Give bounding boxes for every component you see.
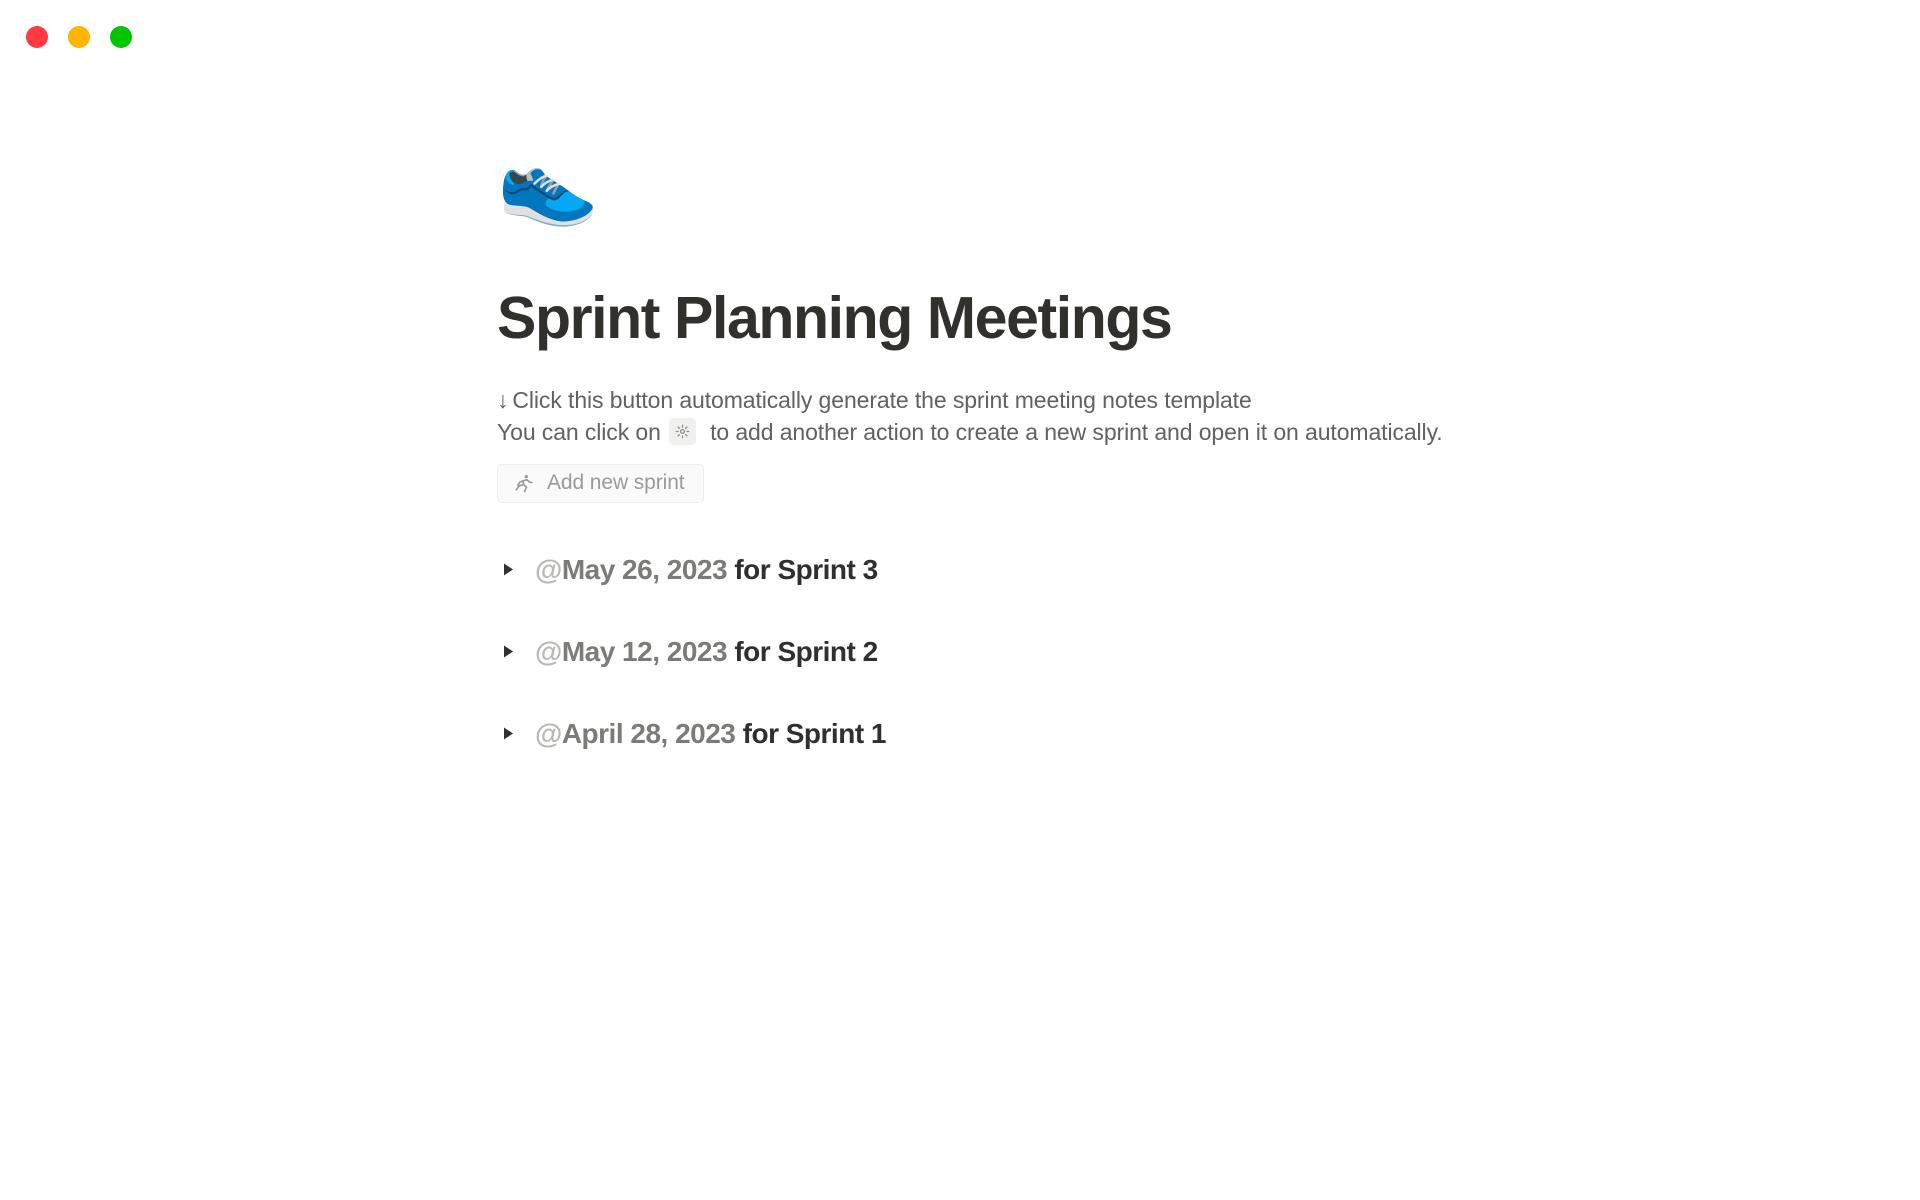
runner-icon [513, 473, 534, 494]
toggle-row[interactable]: @April 28, 2023 for Sprint 1 [497, 714, 1617, 754]
caret-glyph [503, 645, 514, 658]
close-window-button[interactable] [26, 26, 48, 48]
toggle-row-text: @May 26, 2023 for Sprint 3 [535, 556, 878, 584]
arrow-down-icon: ↓ [497, 384, 508, 416]
mention-at-symbol: @ [535, 636, 562, 667]
chevron-right-icon[interactable] [497, 559, 519, 581]
description-line-1: ↓ Click this button automatically genera… [497, 384, 1617, 416]
caret-glyph [503, 727, 514, 740]
toggle-row-text: @April 28, 2023 for Sprint 1 [535, 720, 886, 748]
chevron-right-icon[interactable] [497, 641, 519, 663]
traffic-lights [26, 26, 132, 48]
toggle-row-suffix: for Sprint 3 [727, 554, 878, 585]
gear-icon-glyph [675, 424, 690, 439]
mention-at-symbol: @ [535, 554, 562, 585]
sprint-toggle-list: @May 26, 2023 for Sprint 3 @May 12, 2023… [497, 550, 1617, 754]
gear-icon[interactable] [669, 418, 696, 445]
toggle-row-text: @May 12, 2023 for Sprint 2 [535, 638, 878, 666]
running-shoe-emoji-icon[interactable]: 👟 [497, 142, 1617, 238]
maximize-window-button[interactable] [110, 26, 132, 48]
window-titlebar [0, 0, 1920, 74]
description-line-2-prefix: You can click on [497, 416, 661, 448]
mention-at-symbol: @ [535, 718, 562, 749]
mention-date[interactable]: April 28, 2023 [562, 718, 736, 749]
mention-date[interactable]: May 12, 2023 [562, 636, 727, 667]
document-page: 👟 Sprint Planning Meetings ↓ Click this … [0, 74, 1920, 1200]
description-line-2-suffix: to add another action to create a new sp… [704, 416, 1443, 448]
add-new-sprint-button[interactable]: Add new sprint [497, 464, 704, 503]
toggle-row-suffix: for Sprint 2 [727, 636, 878, 667]
toggle-row[interactable]: @May 26, 2023 for Sprint 3 [497, 550, 1617, 590]
document-content: 👟 Sprint Planning Meetings ↓ Click this … [497, 142, 1617, 754]
mention-date[interactable]: May 26, 2023 [562, 554, 727, 585]
minimize-window-button[interactable] [68, 26, 90, 48]
toggle-row-suffix: for Sprint 1 [735, 718, 886, 749]
toggle-row[interactable]: @May 12, 2023 for Sprint 2 [497, 632, 1617, 672]
caret-glyph [503, 563, 514, 576]
page-title[interactable]: Sprint Planning Meetings [497, 286, 1617, 351]
description-line-1-text: Click this button automatically generate… [512, 384, 1251, 416]
description-line-2: You can click on to add another action t… [497, 416, 1617, 448]
add-new-sprint-label: Add new sprint [547, 471, 685, 495]
chevron-right-icon[interactable] [497, 723, 519, 745]
